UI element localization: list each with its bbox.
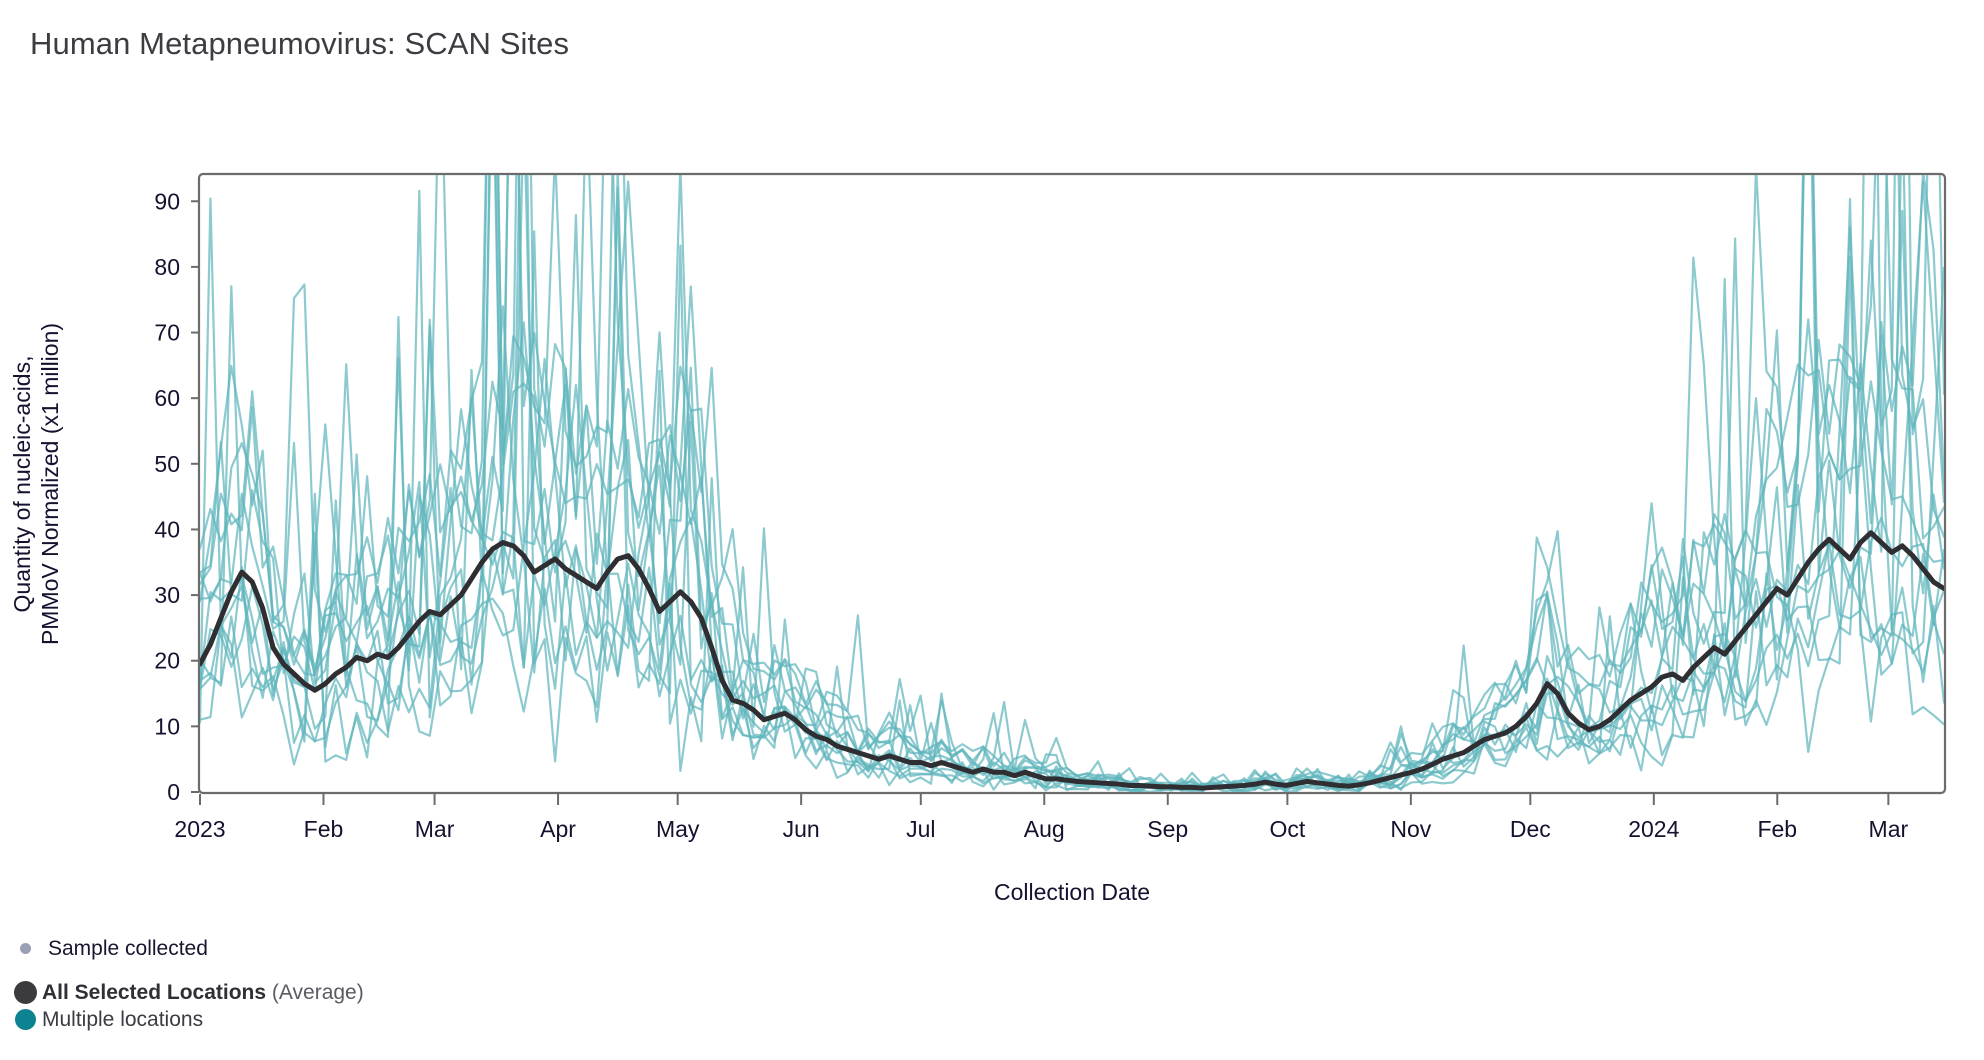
legend-item-sample-collected[interactable]: Sample collected: [8, 935, 708, 962]
y-tick-label: 60: [154, 385, 180, 411]
legend-label-average-name: All Selected Locations: [42, 981, 266, 1004]
x-tick-label: Dec: [1510, 816, 1551, 842]
y-axis-ticks: 0102030405060708090: [154, 188, 199, 805]
x-tick-label: 2023: [174, 816, 225, 842]
y-tick-label: 30: [154, 582, 180, 608]
x-tick-label: 2024: [1628, 816, 1679, 842]
x-tick-label: Aug: [1024, 816, 1065, 842]
chart-svg: Quantity of nucleic-acids, PMMoV Normali…: [0, 0, 1984, 940]
legend-item-multiple-locations[interactable]: Multiple locations: [8, 1006, 708, 1033]
x-tick-label: Sep: [1147, 816, 1188, 842]
x-tick-label: Nov: [1390, 816, 1431, 842]
chart-container: Human Metapneumovirus: SCAN Sites Quanti…: [0, 0, 1984, 1060]
y-tick-label: 50: [154, 451, 180, 477]
y-tick-label: 80: [154, 254, 180, 280]
x-tick-label: Jul: [906, 816, 935, 842]
y-tick-label: 70: [154, 320, 180, 346]
sample-collected-dot-icon: [8, 943, 42, 954]
y-tick-label: 10: [154, 713, 180, 739]
legend-label-sample-collected: Sample collected: [42, 937, 208, 961]
all-selected-locations-dot-icon: [8, 981, 42, 1004]
x-tick-label: May: [656, 816, 700, 842]
x-tick-label: Feb: [304, 816, 344, 842]
legend-label-multiple-locations: Multiple locations: [42, 1008, 203, 1032]
multiple-locations-dot-icon: [8, 1009, 42, 1030]
x-tick-label: Feb: [1757, 816, 1797, 842]
y-axis-title-line2: PMMoV Normalized (x1 million): [37, 323, 63, 645]
y-tick-label: 0: [167, 779, 180, 805]
x-tick-label: Mar: [1869, 816, 1909, 842]
y-axis-title-line1: Quantity of nucleic-acids,: [9, 356, 35, 613]
legend-item-all-selected-locations[interactable]: All Selected Locations (Average): [8, 979, 708, 1006]
legend-label-average-suffix: (Average): [266, 981, 364, 1004]
x-tick-label: Jun: [783, 816, 820, 842]
x-tick-label: Mar: [415, 816, 455, 842]
y-tick-label: 90: [154, 188, 180, 214]
y-axis-title: Quantity of nucleic-acids, PMMoV Normali…: [9, 323, 63, 645]
x-axis-ticks: 2023FebMarAprMayJunJulAugSepOctNovDec202…: [174, 794, 1908, 842]
x-tick-label: Apr: [540, 816, 576, 842]
x-axis-title: Collection Date: [994, 879, 1150, 905]
y-tick-label: 40: [154, 516, 180, 542]
y-tick-label: 20: [154, 648, 180, 674]
chart-legend: Sample collected All Selected Locations …: [8, 935, 708, 1033]
x-tick-label: Oct: [1269, 816, 1305, 842]
